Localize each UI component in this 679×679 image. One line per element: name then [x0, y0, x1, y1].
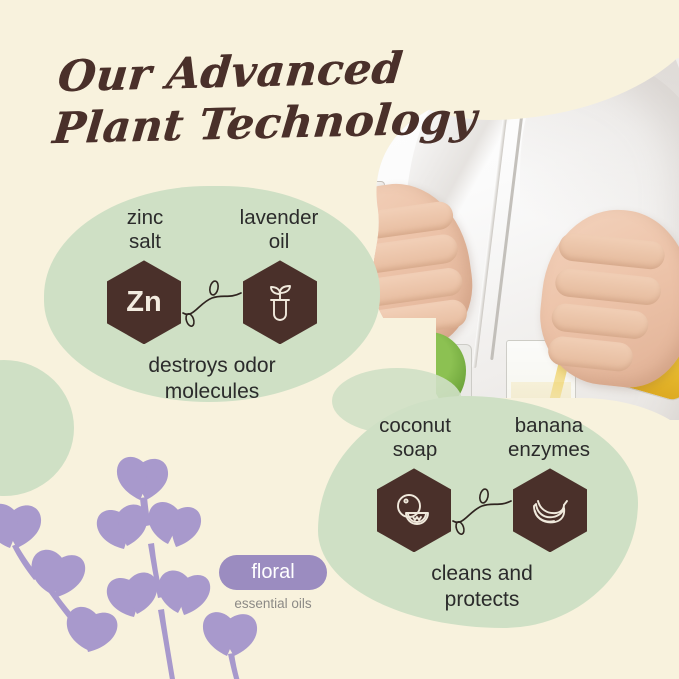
coconut-soap-line-1: coconut — [359, 414, 471, 438]
clean-blob-content: coconut soap banana enzymes — [332, 414, 632, 612]
lavender-oil-line-2: oil — [223, 230, 335, 254]
odor-ingredient-labels: zinc salt lavender oil — [62, 206, 362, 254]
banana-icon — [513, 468, 587, 552]
zinc-symbol: Zn — [126, 286, 161, 319]
ingredient-label-zinc-salt: zinc salt — [89, 206, 201, 254]
odor-hexagon-row: Zn — [62, 260, 362, 344]
page-title: Our Advanced Plant Technology — [50, 41, 481, 156]
ingredient-label-coconut-soap: coconut soap — [359, 414, 471, 462]
infographic-canvas: Our Advanced Plant Technology zinc salt … — [0, 0, 679, 679]
clean-caption-line-1: cleans and — [332, 561, 632, 586]
ingredient-label-lavender-oil: lavender oil — [223, 206, 335, 254]
odor-blob-content: zinc salt lavender oil Zn — [62, 206, 362, 404]
clean-caption: cleans and protects — [332, 561, 632, 611]
clean-caption-line-2: protects — [332, 587, 632, 612]
test-tube-sprout-icon — [243, 260, 317, 344]
zinc-salt-line-2: salt — [89, 230, 201, 254]
floral-badge[interactable]: floral — [219, 555, 327, 590]
vine-connector-icon-2 — [451, 483, 513, 537]
odor-caption-line-1: destroys odor — [62, 353, 362, 378]
coconut-soap-line-2: soap — [359, 438, 471, 462]
ingredient-label-banana-enzymes: banana enzymes — [493, 414, 605, 462]
floral-badge-caption: essential oils — [219, 596, 327, 611]
zinc-salt-line-1: zinc — [89, 206, 201, 230]
title-line-2: Plant Technology — [50, 93, 476, 156]
odor-caption-line-2: molecules — [62, 379, 362, 404]
clean-hexagon-row — [332, 468, 632, 552]
odor-caption: destroys odor molecules — [62, 353, 362, 403]
vine-connector-icon — [181, 275, 243, 329]
clean-ingredient-labels: coconut soap banana enzymes — [332, 414, 632, 462]
zinc-hexagon-icon: Zn — [107, 260, 181, 344]
coconut-icon — [377, 468, 451, 552]
lavender-oil-line-1: lavender — [223, 206, 335, 230]
banana-enzymes-line-2: enzymes — [493, 438, 605, 462]
floral-badge-label: floral — [251, 561, 294, 584]
banana-enzymes-line-1: banana — [493, 414, 605, 438]
